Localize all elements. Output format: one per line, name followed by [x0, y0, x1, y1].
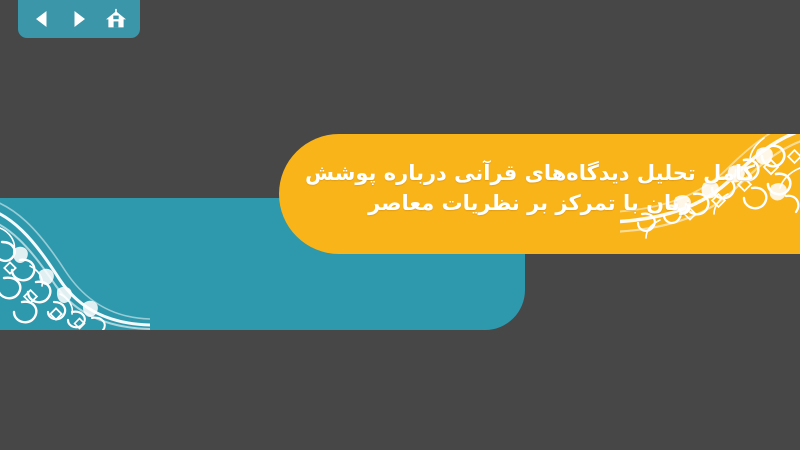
next-slide-button[interactable]	[64, 4, 94, 34]
triangle-left-icon	[31, 8, 53, 30]
slide-title: کامل تحلیل دیدگاه‌های قرآنی درباره پوشش …	[300, 158, 760, 218]
previous-slide-button[interactable]	[27, 4, 57, 34]
home-slide-button[interactable]	[101, 4, 131, 34]
slide-navigation-bar	[18, 0, 140, 38]
triangle-right-icon	[68, 8, 90, 30]
slide-title-line-2: زنان با تمرکز بر نظریات معاصر	[300, 188, 760, 218]
presentation-slide: کامل تحلیل دیدگاه‌های قرآنی درباره پوشش …	[0, 0, 800, 450]
home-icon	[104, 7, 128, 31]
slide-title-line-1: کامل تحلیل دیدگاه‌های قرآنی درباره پوشش	[300, 158, 760, 188]
